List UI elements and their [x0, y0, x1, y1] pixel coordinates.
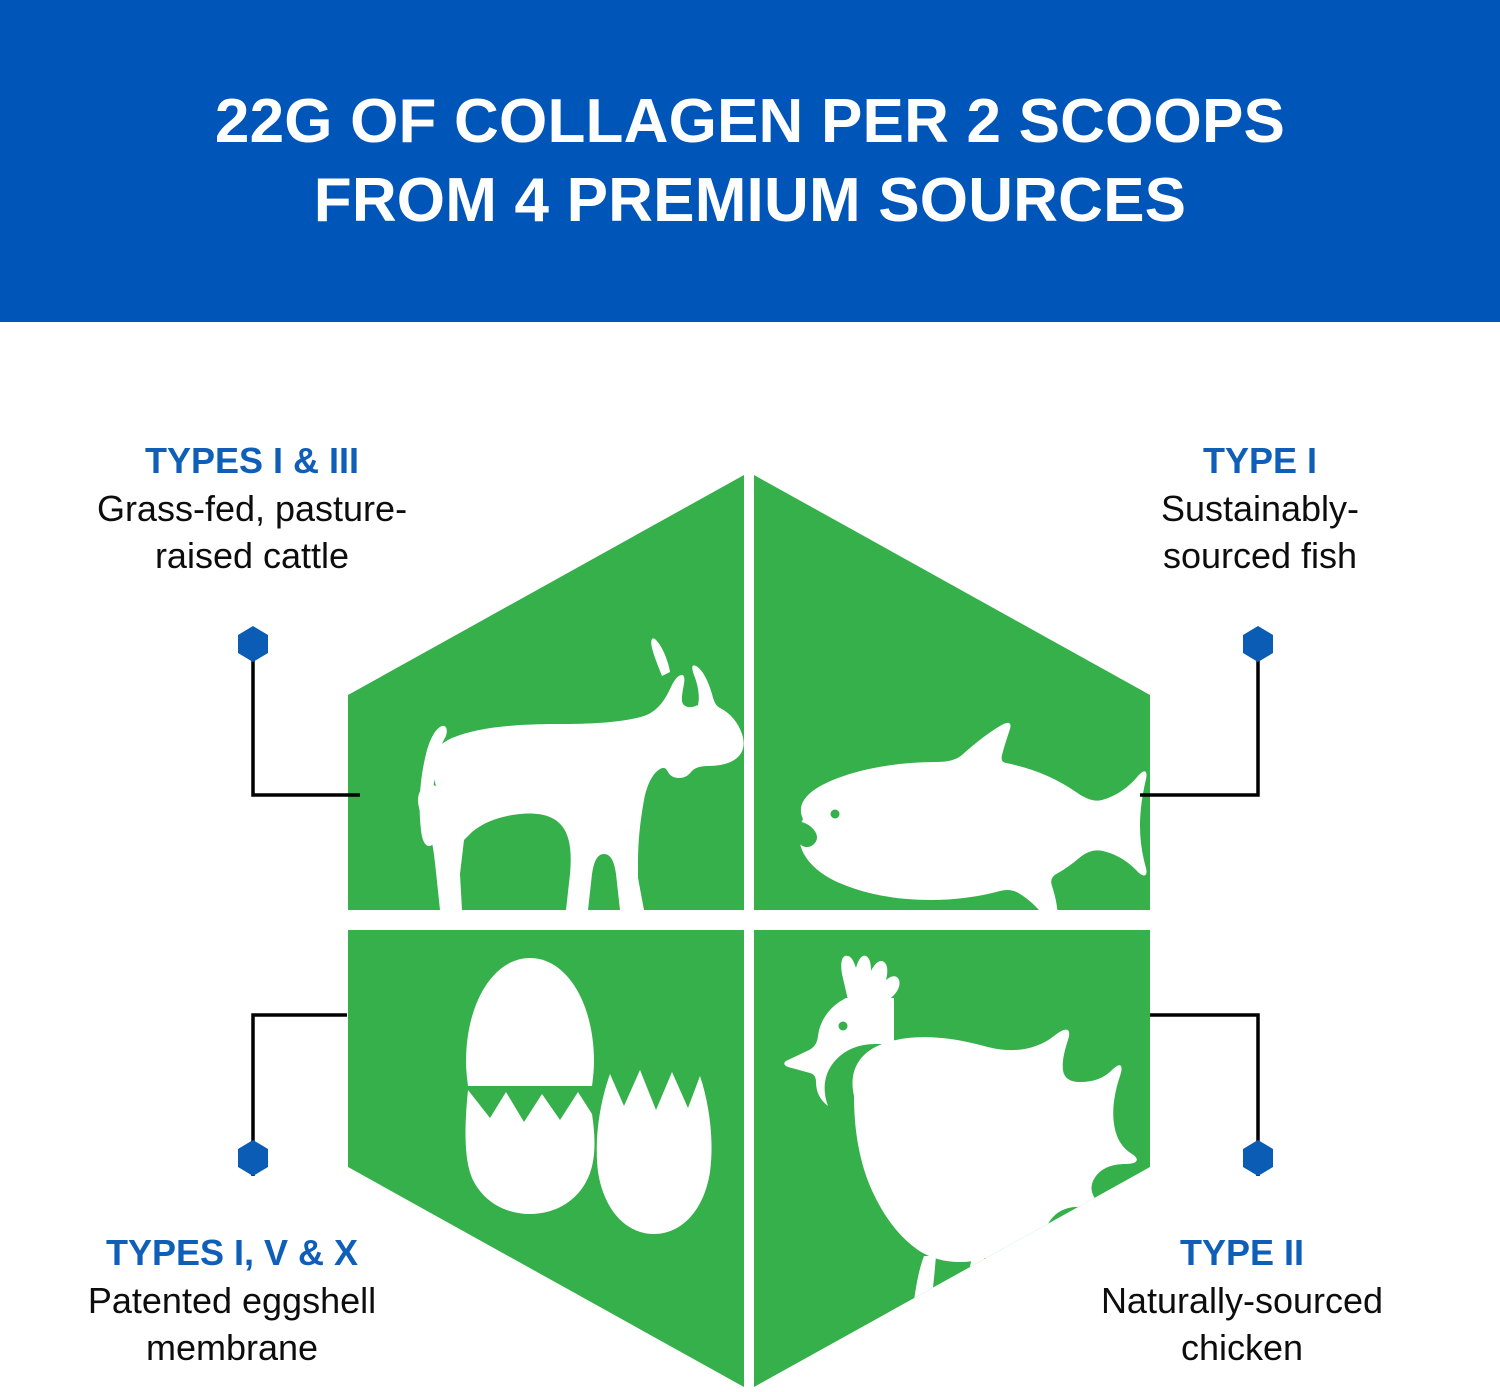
callout-bottom-left-description: Patented eggshell membrane — [62, 1278, 402, 1370]
cow-eye — [685, 685, 692, 692]
infographic-page: 22G OF COLLAGEN PER 2 SCOOPS FROM 4 PREM… — [0, 0, 1500, 1392]
fish-eye — [831, 810, 840, 819]
callout-top-right: TYPE I Sustainably- sourced fish — [1090, 440, 1430, 579]
connector-line-top-left — [253, 660, 360, 795]
connector-top-right — [1140, 626, 1273, 795]
panel-bottom-left — [348, 930, 744, 1387]
connector-line-bottom-left — [253, 1015, 347, 1176]
callout-bottom-right: TYPE II Naturally-sourced chicken — [1072, 1232, 1412, 1371]
callout-bottom-left-title: TYPES I, V & X — [62, 1232, 402, 1274]
header-banner: 22G OF COLLAGEN PER 2 SCOOPS FROM 4 PREM… — [0, 0, 1500, 322]
connector-bottom-right — [1150, 1015, 1273, 1176]
banner-title-line-2: FROM 4 PREMIUM SOURCES — [314, 161, 1186, 240]
hexagon-marker-bottom-right — [1243, 1140, 1273, 1176]
callout-bottom-right-description: Naturally-sourced chicken — [1072, 1278, 1412, 1370]
callout-bottom-left: TYPES I, V & X Patented eggshell membran… — [62, 1232, 402, 1371]
banner-title-line-1: 22G OF COLLAGEN PER 2 SCOOPS — [215, 82, 1285, 161]
callout-bottom-right-title: TYPE II — [1072, 1232, 1412, 1274]
connector-top-left — [238, 626, 360, 795]
callout-bottom-right-desc-line-1: Naturally-sourced — [1101, 1280, 1383, 1321]
hexagon-diagram — [348, 470, 1150, 1392]
hexagon-diagram-svg — [348, 470, 1150, 1392]
callout-top-right-desc-line-1: Sustainably- — [1161, 488, 1359, 529]
callout-bottom-right-desc-line-2: chicken — [1181, 1327, 1303, 1368]
hexagon-marker-bottom-left — [238, 1140, 268, 1176]
callout-top-right-desc-line-2: sourced fish — [1163, 535, 1357, 576]
connector-line-top-right — [1140, 660, 1258, 795]
callout-top-right-description: Sustainably- sourced fish — [1090, 486, 1430, 578]
hexagon-marker-top-right — [1243, 626, 1273, 662]
callout-top-left-title: TYPES I & III — [82, 440, 422, 482]
connector-line-bottom-right — [1150, 1015, 1258, 1176]
callout-top-left: TYPES I & III Grass-fed, pasture- raised… — [82, 440, 422, 579]
callout-top-left-description: Grass-fed, pasture- raised cattle — [82, 486, 422, 578]
callout-top-left-desc-line-2: raised cattle — [155, 535, 349, 576]
chicken-eye — [839, 1022, 848, 1031]
hexagon-marker-top-left — [238, 626, 268, 662]
connector-bottom-left — [238, 1015, 347, 1176]
callout-top-left-desc-line-1: Grass-fed, pasture- — [97, 488, 407, 529]
callout-bottom-left-desc-line-1: Patented eggshell — [88, 1280, 376, 1321]
callout-bottom-left-desc-line-2: membrane — [146, 1327, 318, 1368]
callout-top-right-title: TYPE I — [1090, 440, 1430, 482]
